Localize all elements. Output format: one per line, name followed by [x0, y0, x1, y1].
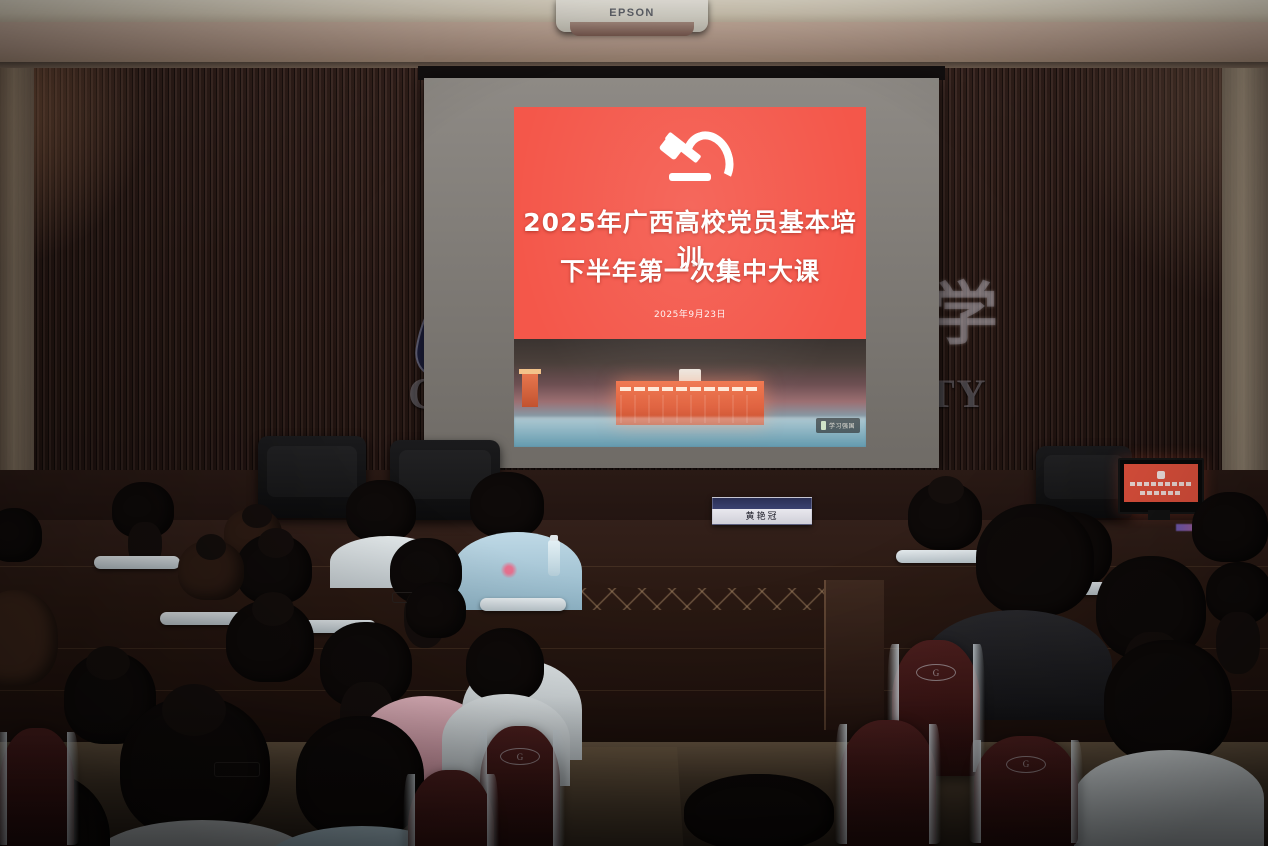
seat-badge-letter: G	[1023, 759, 1030, 769]
slide-watermark-text: 学习强国	[829, 421, 855, 430]
slide-title-line-2: 下半年第一次集中大课	[514, 252, 866, 288]
wall-logo-right: 学 TY	[928, 282, 1038, 432]
seat-headrest	[480, 598, 566, 611]
slide-footer-illustration: 学习强国	[514, 339, 866, 447]
seat-headrest	[896, 550, 986, 563]
attendee-shoulders	[92, 820, 312, 846]
slide-date: 2025年9月23日	[514, 307, 866, 320]
attendee-hair-bun	[86, 646, 130, 680]
attendee-shoulders	[1074, 750, 1264, 846]
ceiling-projector: EPSON	[556, 0, 708, 32]
auditorium-seat[interactable]: G	[974, 736, 1078, 846]
attendee-hair-bun	[162, 684, 226, 736]
seat-logo-badge: G	[500, 748, 540, 765]
attendee-head	[0, 590, 58, 686]
seat-logo-badge: G	[1006, 756, 1046, 773]
water-bottle	[548, 540, 560, 576]
projector-lens-icon	[570, 22, 694, 36]
water-reflection	[514, 417, 866, 447]
wall-logo-right-character: 学	[930, 282, 1000, 350]
wall-pillar-right	[1222, 68, 1268, 538]
audience-area: G G G	[0, 470, 1268, 846]
cpc-hammer-sickle-emblem-icon	[659, 129, 721, 191]
attendee-head	[406, 582, 466, 638]
attendee-head	[1104, 640, 1232, 764]
presentation-slide: 2025年广西高校党员基本培训 下半年第一次集中大课 2025年9月23日 学习…	[514, 107, 866, 447]
bookmark-icon	[821, 421, 826, 430]
attendee-hair-bun	[258, 528, 294, 558]
attendee-head	[976, 504, 1094, 616]
attendee-head	[470, 472, 544, 538]
seat-badge-letter: G	[933, 668, 940, 678]
side-tower-shape	[522, 373, 538, 407]
attendee-head	[0, 508, 42, 562]
attendee-hair-bun	[252, 592, 294, 626]
slide-watermark: 学习强国	[816, 418, 860, 433]
attendee-head	[466, 628, 544, 702]
attendee-head	[684, 774, 834, 846]
projection-screen: 2025年广西高校党员基本培训 下半年第一次集中大课 2025年9月23日 学习…	[424, 78, 939, 468]
seat-headrest	[94, 556, 180, 569]
seat-badge-letter: G	[517, 752, 524, 762]
attendee-hair-bun	[928, 476, 964, 504]
wall-pillar-left	[0, 68, 34, 538]
attendee-head	[346, 480, 416, 542]
auditorium-photo: G 学 TY EPSON 2025年广西高校党员基本培训 下半年第一次集中大课 …	[0, 0, 1268, 846]
auditorium-seat[interactable]	[0, 728, 74, 846]
auditorium-seat[interactable]	[840, 720, 936, 846]
seat-logo-badge: G	[916, 664, 956, 681]
tshirt-graphic	[500, 562, 518, 578]
attendee-hair-bun	[196, 534, 226, 560]
attendee-hair-bun	[242, 504, 272, 528]
eyeglasses	[214, 762, 260, 777]
attendee-head	[1192, 492, 1268, 562]
projector-brand-label: EPSON	[609, 7, 655, 19]
attendee-hair	[1216, 612, 1260, 674]
